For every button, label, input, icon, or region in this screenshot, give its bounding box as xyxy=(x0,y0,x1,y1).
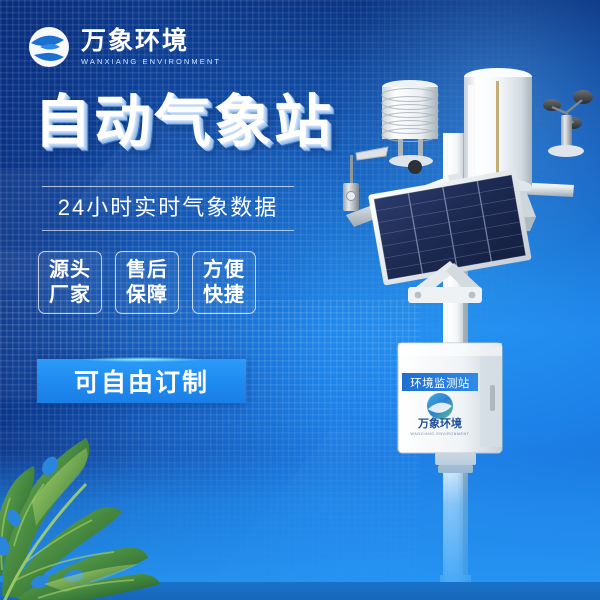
product-banner: 环境监测站 万象环境 WANXIANG ENVIRONMENT xyxy=(0,0,600,600)
feature-line-1: 方便 xyxy=(203,258,245,282)
globe-swoosh-logo-icon xyxy=(26,24,72,70)
subtitle-text: 24小时实时气象数据 xyxy=(42,187,294,230)
device-brand-en-text: WANXIANG ENVIRONMENT xyxy=(411,432,470,436)
device-brand-cn-text: 万象环境 xyxy=(417,416,462,430)
brand-logo-text: 万象环境 WANXIANG ENVIRONMENT xyxy=(81,29,221,66)
feature-line-2: 保障 xyxy=(126,283,168,307)
feature-line-1: 售后 xyxy=(126,258,168,282)
feature-badge-source-factory: 源头 厂家 xyxy=(38,251,102,314)
customization-cta-label: 可自由订制 xyxy=(74,363,209,399)
subtitle-rule-bottom xyxy=(42,230,294,231)
brand-name-cn: 万象环境 xyxy=(81,29,221,54)
feature-badge-after-sales: 售后 保障 xyxy=(115,251,179,314)
monstera-leaf-icon xyxy=(0,406,179,600)
subtitle-block: 24小时实时气象数据 xyxy=(42,186,294,231)
radiation-shield-icon xyxy=(382,80,438,174)
page-title: 自动气象站 xyxy=(34,94,334,151)
control-box-icon: 环境监测站 万象环境 WANXIANG ENVIRONMENT xyxy=(398,343,502,453)
brand-name-en: WANXIANG ENVIRONMENT xyxy=(81,58,221,66)
brand-logo: 万象环境 WANXIANG ENVIRONMENT xyxy=(26,24,221,70)
feature-line-1: 源头 xyxy=(49,258,91,282)
feature-badge-convenient: 方便 快捷 xyxy=(192,251,256,314)
feature-line-2: 快捷 xyxy=(203,283,245,307)
customization-cta-button[interactable]: 可自由订制 xyxy=(37,359,246,403)
anemometer-icon xyxy=(543,90,593,157)
device-label-text: 环境监测站 xyxy=(410,376,470,390)
feature-badge-list: 源头 厂家 售后 保障 方便 快捷 xyxy=(38,251,256,314)
feature-line-2: 厂家 xyxy=(49,283,91,307)
